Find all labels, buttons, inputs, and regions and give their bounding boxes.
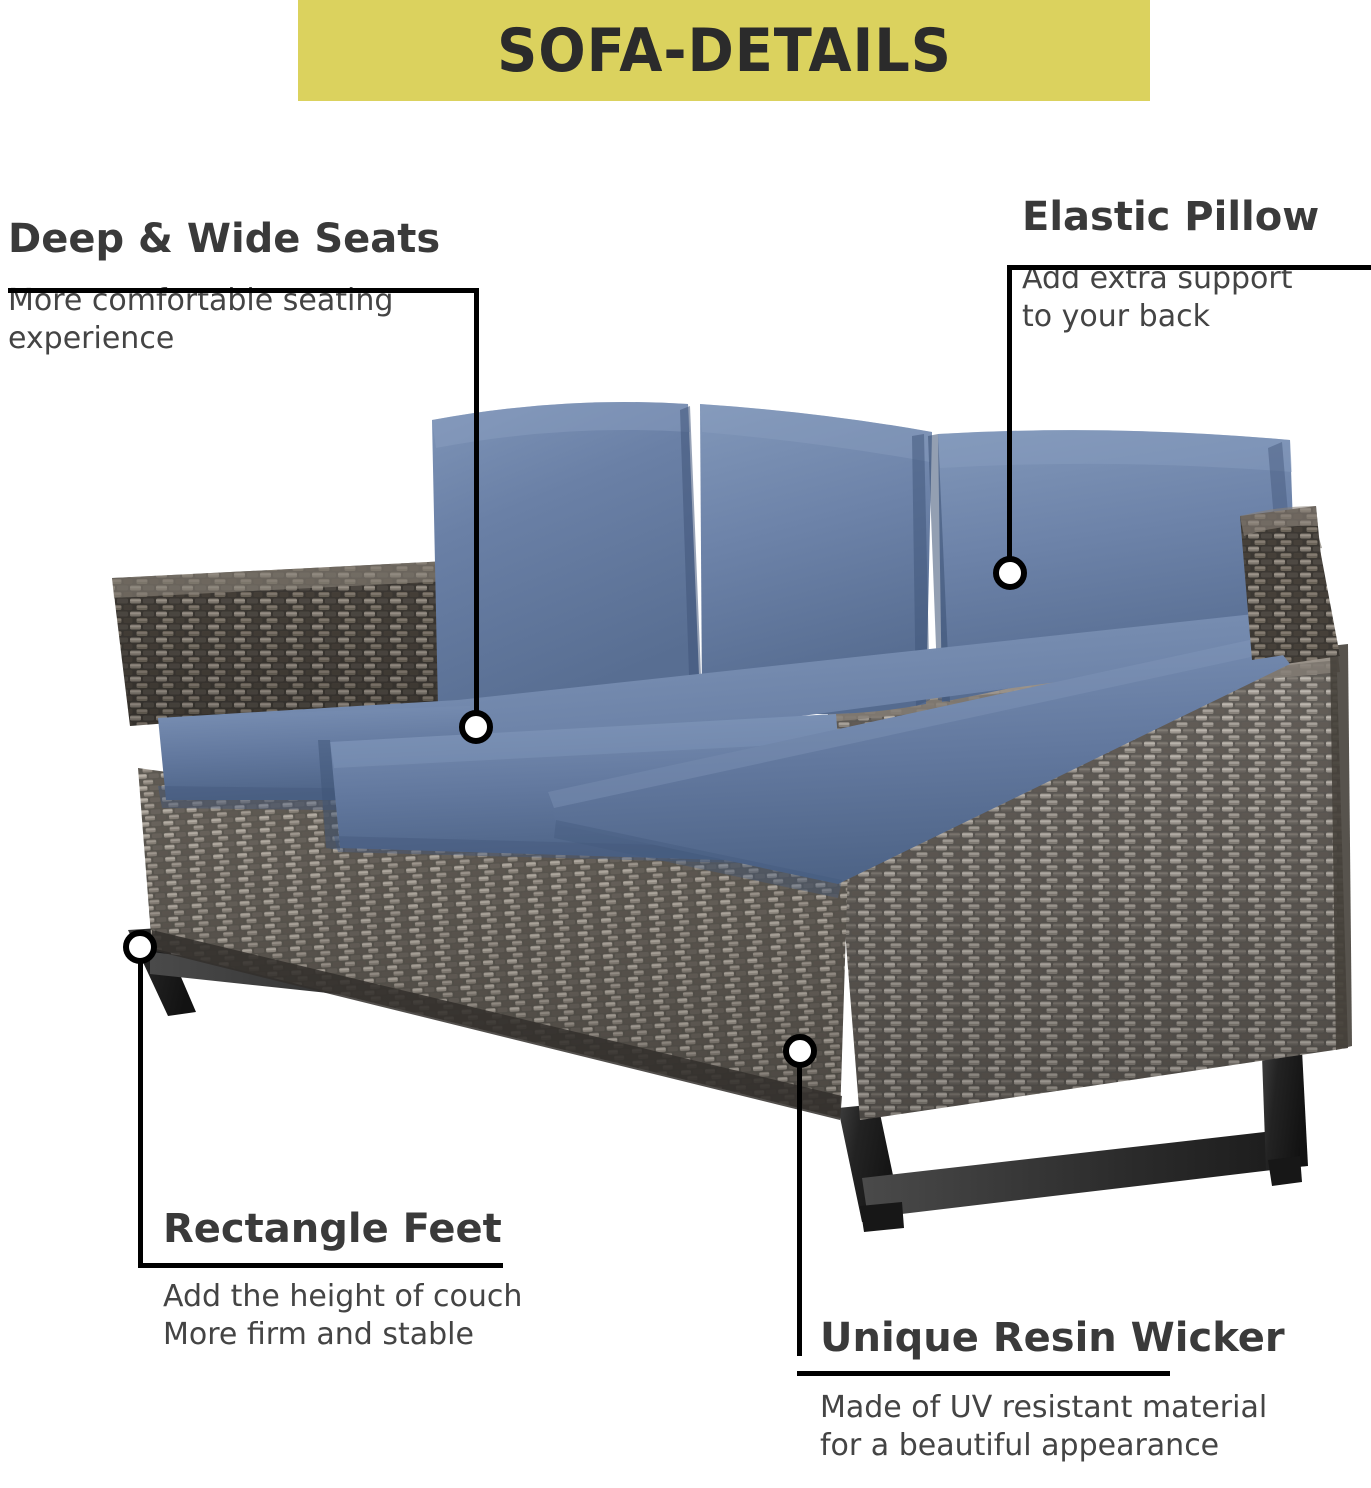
sofa-body <box>112 402 1352 1232</box>
marker-leg <box>123 930 157 964</box>
callout-body-rectangle-feet: Add the height of couch More firm and st… <box>163 1278 593 1353</box>
callout-heading-deep-wide-seats: Deep & Wide Seats <box>8 218 478 260</box>
connector-elastic-pillow-vertical <box>1007 268 1012 560</box>
callout-rule-elastic-pillow <box>1007 265 1371 270</box>
callout-body-elastic-pillow: Add extra support to your back <box>1022 260 1371 335</box>
callout-heading-rectangle-feet: Rectangle Feet <box>163 1208 593 1250</box>
marker-seat-cushion <box>459 710 493 744</box>
callout-rule-unique-resin-wicker <box>797 1371 1170 1376</box>
callout-rule-deep-wide-seats <box>8 288 479 293</box>
callout-heading-unique-resin-wicker: Unique Resin Wicker <box>820 1317 1371 1359</box>
callout-heading-elastic-pillow: Elastic Pillow <box>1022 196 1371 238</box>
infographic-page: SOFA-DETAILS <box>0 0 1371 1488</box>
callout-rectangle-feet: Rectangle Feet Add the height of couch M… <box>163 1208 593 1353</box>
connector-unique-resin-wicker-vertical <box>797 1064 802 1356</box>
back-cushion-left <box>432 402 700 715</box>
callout-unique-resin-wicker: Unique Resin Wicker Made of UV resistant… <box>820 1317 1371 1464</box>
callout-body-unique-resin-wicker: Made of UV resistant material for a beau… <box>820 1389 1371 1464</box>
marker-back-pillow <box>993 556 1027 590</box>
callout-body-deep-wide-seats: More comfortable seating experience <box>8 282 478 357</box>
callout-rule-rectangle-feet <box>138 1263 503 1268</box>
connector-rectangle-feet-vertical <box>138 960 143 1268</box>
marker-wicker <box>783 1034 817 1068</box>
